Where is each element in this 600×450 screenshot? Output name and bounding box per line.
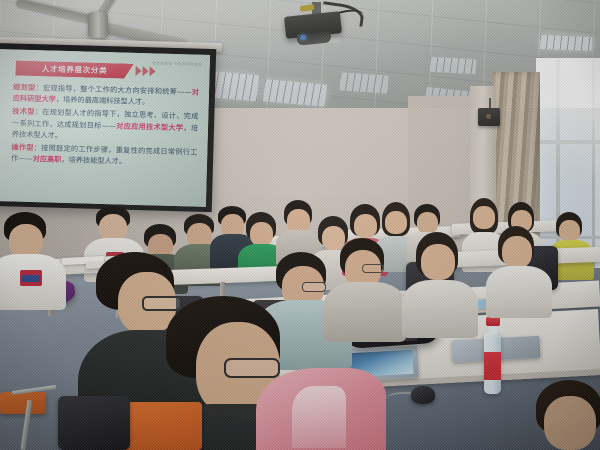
- mouse-cord: [386, 392, 414, 404]
- slide-paragraph: 操作型：按照既定的工作步骤，重复性的完成日常例行工作——对应高职，培养技能型人才…: [11, 141, 198, 169]
- slide-paragraph: 技术型：在规划型人才的指导下，独立思考、设计、完成一系列工作，达成规划目标——对…: [12, 106, 199, 145]
- slide-paragraph: 规划型：宏观指导，整个工作的大方向安排和统筹——对应科研型大学，培养的最高端科技…: [13, 81, 200, 109]
- chair: [58, 396, 130, 450]
- slide-watermark: 教育部直属 中国高等教育网: [152, 61, 202, 67]
- paragraph-lead: 操作型: [11, 142, 34, 152]
- computer-mouse: [411, 386, 435, 404]
- projection-screen: 人才培养层次分类 教育部直属 中国高等教育网 规划型：宏观指导，整个工作的大方向…: [0, 43, 216, 212]
- classroom-photo: 人才培养层次分类 教育部直属 中国高等教育网 规划型：宏观指导，整个工作的大方向…: [0, 0, 600, 450]
- paragraph-highlight: 对应高职: [33, 154, 62, 164]
- slide-title-banner: 人才培养层次分类: [15, 61, 133, 79]
- ceiling-fan: [88, 12, 108, 38]
- paragraph-lead: 技术型: [12, 107, 35, 117]
- powerpoint-slide: 人才培养层次分类 教育部直属 中国高等教育网 规划型：宏观指导，整个工作的大方向…: [0, 49, 210, 207]
- screen-surface: 人才培养层次分类 教育部直属 中国高等教育网 规划型：宏观指导，整个工作的大方向…: [0, 49, 210, 207]
- bottle-cap: [486, 317, 500, 326]
- slide-title: 人才培养层次分类: [42, 63, 108, 76]
- paragraph-lead: 规划型: [13, 82, 36, 92]
- paragraph-tail: ，培养技能型人才。: [61, 155, 126, 166]
- bottle-label: [484, 352, 501, 380]
- paragraph-tail: ，培养的最高端科技型人才。: [56, 95, 150, 107]
- chair-seat: [0, 392, 46, 414]
- chevron-right-icon: [135, 66, 155, 77]
- projector-indicator-icon: [300, 35, 306, 40]
- slide-body: 规划型：宏观指导，整个工作的大方向安排和统筹——对应科研型大学，培养的最高端科技…: [11, 81, 199, 170]
- paragraph-highlight: 对应应用技术型大学: [116, 121, 184, 132]
